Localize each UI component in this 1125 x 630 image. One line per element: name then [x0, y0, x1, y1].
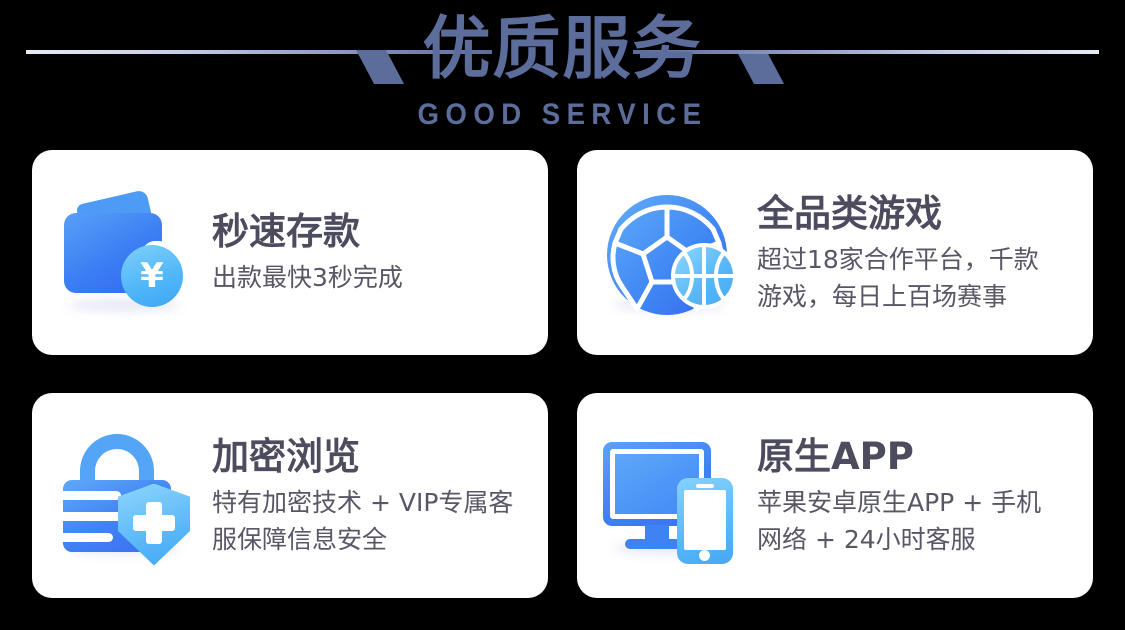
- feature-card-games[interactable]: 全品类游戏 超过18家合作平台，千款 游戏，每日上百场赛事: [577, 150, 1093, 355]
- card-subtitle-line: 出款最快3秒完成: [212, 259, 534, 296]
- card-subtitle-line: 服保障信息安全: [212, 521, 534, 558]
- card-text-block: 全品类游戏 超过18家合作平台，千款 游戏，每日上百场赛事: [751, 191, 1083, 315]
- section-header: 优质服务 GOOD SERVICE: [0, 0, 1125, 145]
- yen-coin-icon: ¥: [121, 245, 183, 307]
- phone-icon: [677, 478, 733, 564]
- feature-card-native-app[interactable]: 原生APP 苹果安卓原生APP + 手机 网络 + 24小时客服: [577, 393, 1093, 598]
- phone-home-button-icon: [699, 550, 710, 561]
- card-subtitle-line: 苹果安卓原生APP + 手机: [757, 484, 1079, 521]
- lock-shield-icon: [54, 426, 206, 566]
- feature-card-grid: ¥ 秒速存款 出款最快3秒完成: [32, 150, 1093, 598]
- basketball-icon: [671, 243, 737, 309]
- feature-card-deposit[interactable]: ¥ 秒速存款 出款最快3秒完成: [32, 150, 548, 355]
- card-title: 秒速存款: [212, 209, 534, 255]
- phone-screen: [684, 490, 726, 550]
- card-title: 加密浏览: [212, 434, 534, 480]
- card-title: 全品类游戏: [757, 191, 1079, 237]
- card-subtitle-line: 特有加密技术 + VIP专属客: [212, 484, 534, 521]
- card-subtitle-line: 游戏，每日上百场赛事: [757, 278, 1079, 315]
- card-subtitle-line: 超过18家合作平台，千款: [757, 241, 1079, 278]
- promo-banner: 优质服务 GOOD SERVICE ¥ 秒速存款 出款最快3秒完成: [0, 0, 1125, 630]
- lock-slot-icon: [63, 533, 113, 542]
- wallet-yen-icon: ¥: [54, 183, 206, 323]
- card-text-block: 原生APP 苹果安卓原生APP + 手机 网络 + 24小时客服: [751, 434, 1083, 558]
- card-text-block: 加密浏览 特有加密技术 + VIP专属客 服保障信息安全: [206, 434, 538, 558]
- card-subtitle-line: 网络 + 24小时客服: [757, 521, 1079, 558]
- card-title: 原生APP: [757, 434, 1079, 480]
- phone-speaker-icon: [696, 484, 714, 488]
- monitor-phone-icon: [599, 426, 751, 566]
- feature-card-encryption[interactable]: 加密浏览 特有加密技术 + VIP专属客 服保障信息安全: [32, 393, 548, 598]
- soccer-basketball-icon: [599, 183, 751, 323]
- page-title: 优质服务: [0, 8, 1125, 92]
- card-text-block: 秒速存款 出款最快3秒完成: [206, 209, 538, 296]
- cross-icon: [133, 515, 175, 531]
- page-subtitle: GOOD SERVICE: [45, 98, 1080, 132]
- lock-slot-icon: [63, 491, 121, 500]
